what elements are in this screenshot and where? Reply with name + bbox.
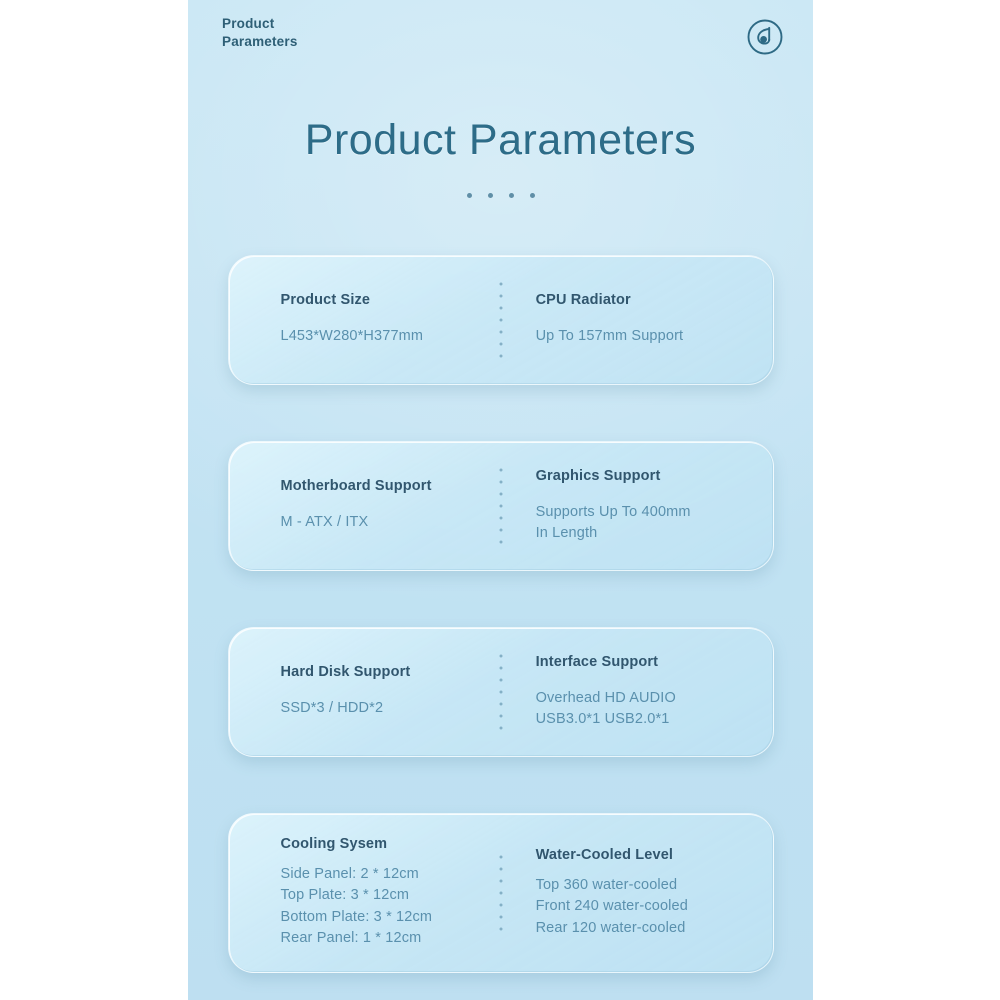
spec-label: Product Size [281,292,478,308]
brand-title: Product Parameters [222,15,298,50]
spec-cell-left: Cooling Sysem Side Panel: 2 * 12cm Top P… [229,814,492,972]
poster-header: Product Parameters [188,0,813,74]
spec-value: Supports Up To 400mm In Length [536,502,759,544]
spec-cell-left: Product Size L453*W280*H377mm [229,270,492,369]
spec-label: Hard Disk Support [281,664,478,680]
spec-card-list: Product Size L453*W280*H377mm CPU Radiat… [188,255,813,973]
title-dot-divider [188,193,813,198]
product-parameters-panel: Product Parameters Product Parameters [188,0,813,1000]
title-dot [467,193,472,198]
title-block: Product Parameters [188,118,813,198]
spec-value: L453*W280*H377mm [281,326,478,347]
spec-card: Cooling Sysem Side Panel: 2 * 12cm Top P… [228,813,774,973]
spec-cell-right: Interface Support Overhead HD AUDIO USB3… [492,632,773,752]
spec-value: M - ATX / ITX [281,512,478,533]
spec-cell-left: Motherboard Support M - ATX / ITX [229,456,492,555]
spec-card: Product Size L453*W280*H377mm CPU Radiat… [228,255,774,385]
spec-value: Top 360 water-cooled Front 240 water-coo… [536,875,759,939]
title-dot [509,193,514,198]
spec-label: Graphics Support [536,468,759,484]
spec-label: CPU Radiator [536,292,759,308]
spec-cell-right: Water-Cooled Level Top 360 water-cooled … [492,825,773,961]
spec-cell-right: CPU Radiator Up To 157mm Support [492,270,773,369]
spec-label: Cooling Sysem [281,836,478,852]
spec-label: Interface Support [536,654,759,670]
title-dot [488,193,493,198]
spec-value: Overhead HD AUDIO USB3.0*1 USB2.0*1 [536,688,759,730]
spec-card: Motherboard Support M - ATX / ITX Graphi… [228,441,774,571]
spec-label: Motherboard Support [281,478,478,494]
spec-value: Up To 157mm Support [536,326,759,347]
circle-d-note-logo-icon [745,17,785,57]
spec-value: Side Panel: 2 * 12cm Top Plate: 3 * 12cm… [281,864,478,950]
poster-canvas: Product Parameters Product Parameters [0,0,1000,1000]
spec-value: SSD*3 / HDD*2 [281,698,478,719]
spec-cell-right: Graphics Support Supports Up To 400mm In… [492,446,773,566]
page-title: Product Parameters [188,118,813,163]
spec-card: Hard Disk Support SSD*3 / HDD*2 Interfac… [228,627,774,757]
spec-label: Water-Cooled Level [536,847,759,863]
title-dot [530,193,535,198]
spec-cell-left: Hard Disk Support SSD*3 / HDD*2 [229,642,492,741]
